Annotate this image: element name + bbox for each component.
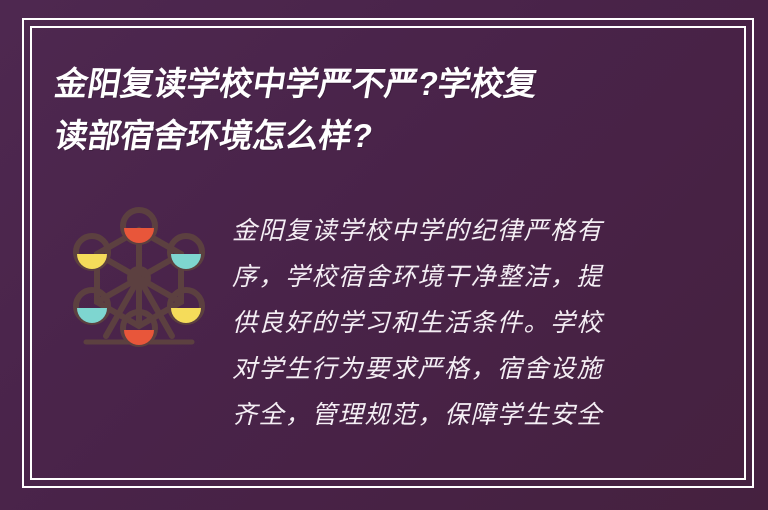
ferris-wheel-illustration xyxy=(64,196,214,356)
gondola-top xyxy=(123,210,155,243)
page-title: 金阳复读学校中学严不严?学校复 读部宿舍环境怎么样? xyxy=(55,58,675,162)
body-line-2: 序，学校宿舍环境干净整洁，提 xyxy=(232,254,652,300)
body-paragraph: 金阳复读学校中学的纪律严格有 序，学校宿舍环境干净整洁，提 供良好的学习和生活条… xyxy=(232,208,652,438)
body-line-3: 供良好的学习和生活条件。学校 xyxy=(232,300,652,346)
title-line-2: 读部宿舍环境怎么样? xyxy=(51,110,679,162)
ferris-wheel-icon xyxy=(64,196,214,356)
body-line-1: 金阳复读学校中学的纪律严格有 xyxy=(232,208,652,254)
title-line-1: 金阳复读学校中学严不严?学校复 xyxy=(51,58,679,110)
body-line-5: 齐全，管理规范，保障学生安全 xyxy=(232,392,652,438)
poster-canvas: 金阳复读学校中学严不严?学校复 读部宿舍环境怎么样? xyxy=(0,0,768,510)
body-line-4: 对学生行为要求严格，宿舍设施 xyxy=(232,346,652,392)
